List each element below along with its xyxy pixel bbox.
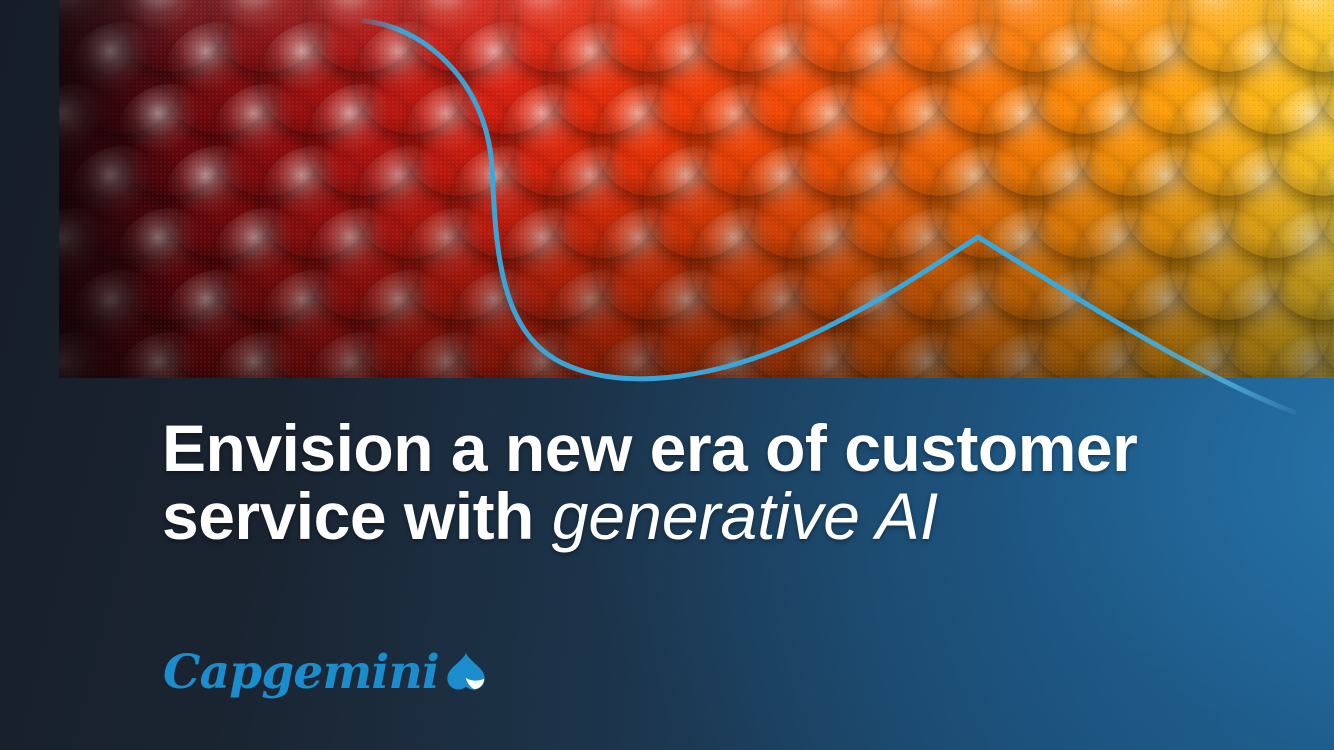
page-title: Envision a new era of customer service w… — [162, 415, 1162, 551]
hero-texture-overlay — [59, 0, 1334, 378]
title-line-1: Envision a new era of customer — [162, 411, 1137, 485]
capgemini-spade-mark — [443, 649, 489, 695]
hero-left-vignette — [59, 0, 179, 378]
title-block: Envision a new era of customer service w… — [162, 415, 1162, 551]
title-line-2-lead: service with — [162, 479, 552, 553]
hero-image — [59, 0, 1334, 378]
capgemini-logo: Capgemini — [163, 641, 489, 703]
title-line-2-accent: generative AI — [552, 479, 938, 553]
logo-wordmark: Capgemini — [163, 649, 439, 696]
title-slide: Envision a new era of customer service w… — [0, 0, 1334, 750]
